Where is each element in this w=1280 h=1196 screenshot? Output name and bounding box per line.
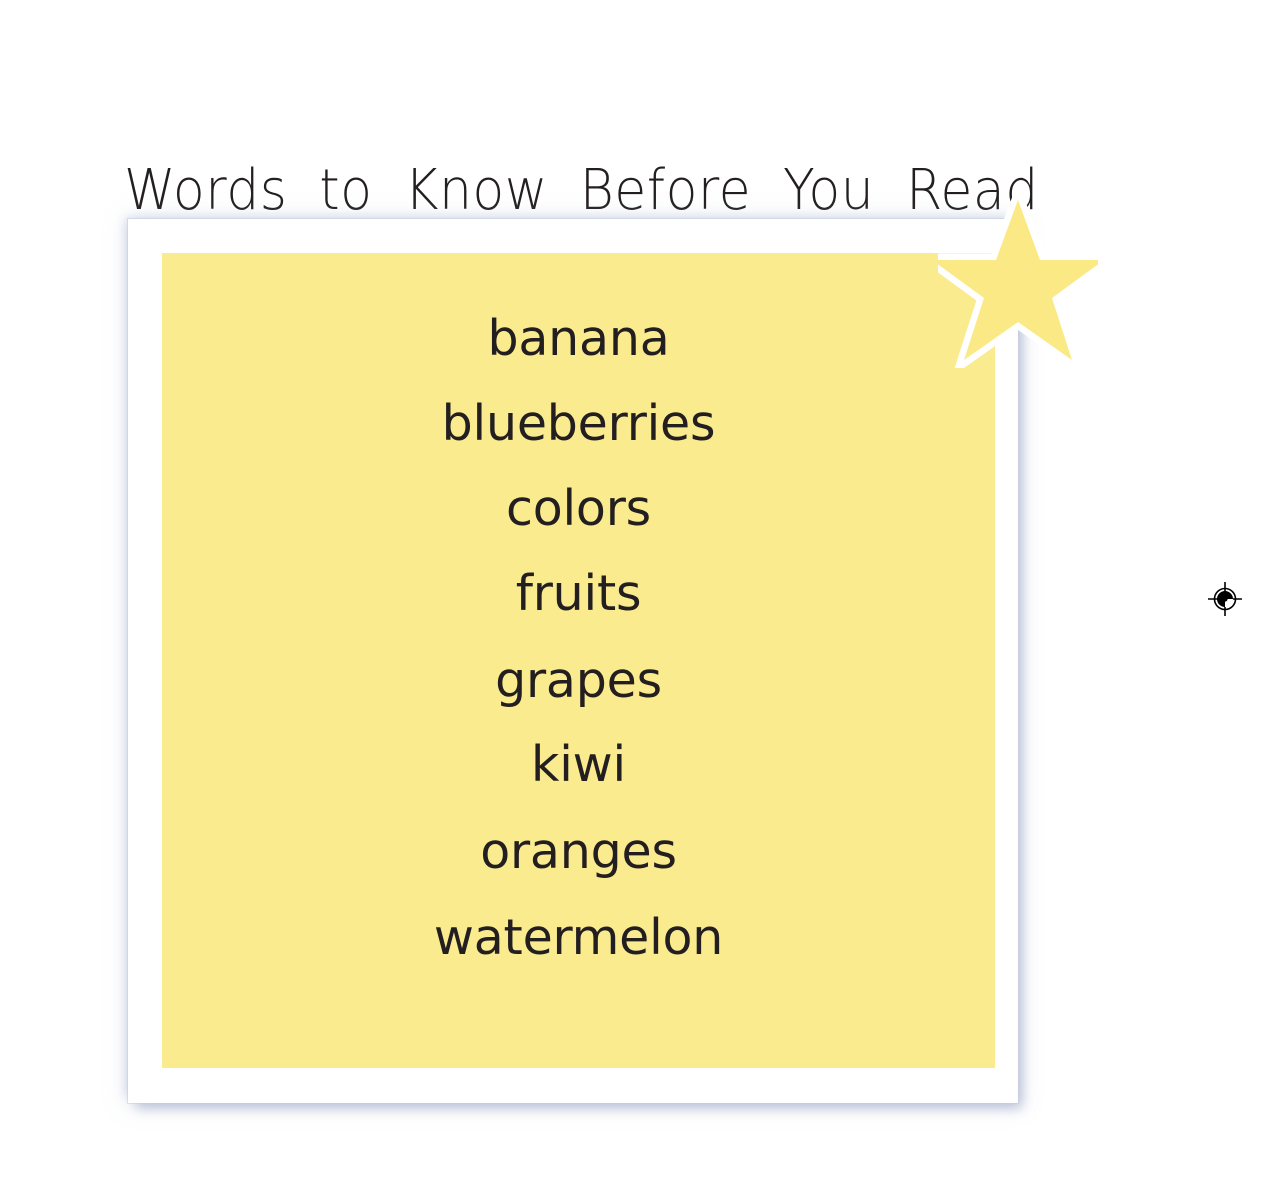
list-item: blueberries xyxy=(162,396,995,452)
list-item: grapes xyxy=(162,653,995,709)
list-item: banana xyxy=(162,311,995,367)
list-item: colors xyxy=(162,481,995,537)
word-card: banana blueberries colors fruits grapes … xyxy=(128,219,1018,1103)
page-title: Words to Know Before You Read xyxy=(124,160,980,222)
list-item: oranges xyxy=(162,824,995,880)
list-item: kiwi xyxy=(162,737,995,793)
list-item: watermelon xyxy=(162,910,995,966)
list-item: fruits xyxy=(162,566,995,622)
word-panel: banana blueberries colors fruits grapes … xyxy=(162,253,995,1068)
registration-mark-icon xyxy=(1208,582,1242,616)
word-list: banana blueberries colors fruits grapes … xyxy=(162,253,995,1068)
